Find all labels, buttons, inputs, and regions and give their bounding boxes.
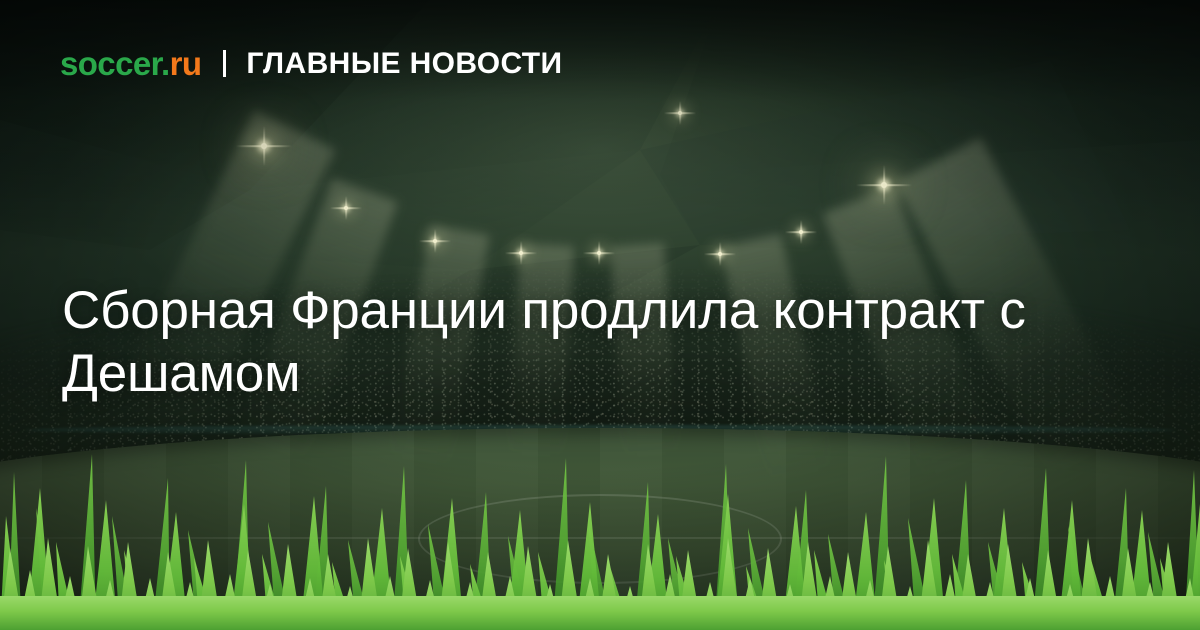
foreground-grass bbox=[0, 420, 1200, 630]
soccer-ru-logo[interactable]: soccer.ru bbox=[60, 47, 201, 80]
page-title: Сборная Франции продлила контракт с Деша… bbox=[62, 279, 1152, 405]
logo-word-soccer: soccer bbox=[60, 45, 161, 82]
logo-word-ru: ru bbox=[170, 45, 202, 82]
news-cover-card: soccer.ru ГЛАВНЫЕ НОВОСТИ Сборная Франци… bbox=[0, 0, 1200, 630]
header-kicker: ГЛАВНЫЕ НОВОСТИ bbox=[246, 49, 562, 79]
logo-dot: . bbox=[161, 45, 170, 82]
header-divider bbox=[223, 50, 226, 77]
site-header: soccer.ru ГЛАВНЫЕ НОВОСТИ bbox=[60, 47, 562, 80]
